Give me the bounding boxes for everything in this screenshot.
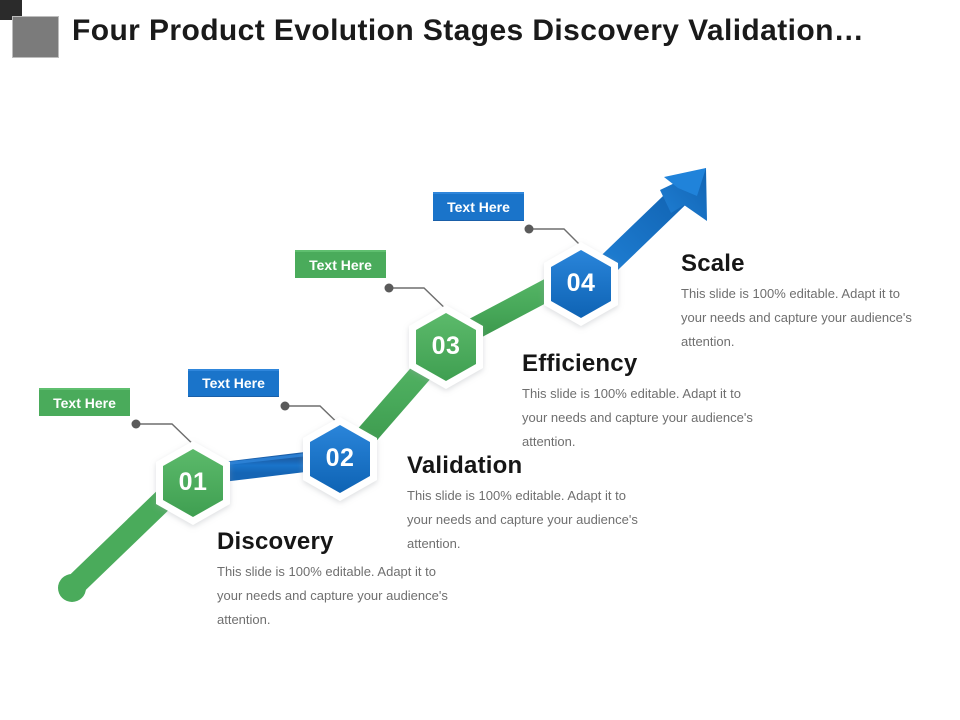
tag-text-here-1[interactable]: Text Here	[39, 388, 130, 416]
tag-text-here-3[interactable]: Text Here	[295, 250, 386, 278]
tag-text-here-2[interactable]: Text Here	[188, 369, 279, 397]
stage-block-efficiency: Efficiency This slide is 100% editable. …	[522, 350, 767, 454]
stage-body-discovery: This slide is 100% editable. Adapt it to…	[217, 560, 462, 632]
tag-text-here-4[interactable]: Text Here	[433, 192, 524, 221]
stage-body-validation: This slide is 100% editable. Adapt it to…	[407, 484, 652, 556]
stage-heading-scale: Scale	[681, 250, 926, 278]
stage-block-scale: Scale This slide is 100% editable. Adapt…	[681, 250, 926, 354]
stage-body-efficiency: This slide is 100% editable. Adapt it to…	[522, 382, 767, 454]
process-diagram	[0, 0, 960, 720]
stage-block-validation: Validation This slide is 100% editable. …	[407, 452, 652, 556]
stage-heading-efficiency: Efficiency	[522, 350, 767, 378]
stage-body-scale: This slide is 100% editable. Adapt it to…	[681, 282, 926, 354]
stage-heading-validation: Validation	[407, 452, 652, 480]
stage-node-01[interactable]	[156, 441, 230, 525]
